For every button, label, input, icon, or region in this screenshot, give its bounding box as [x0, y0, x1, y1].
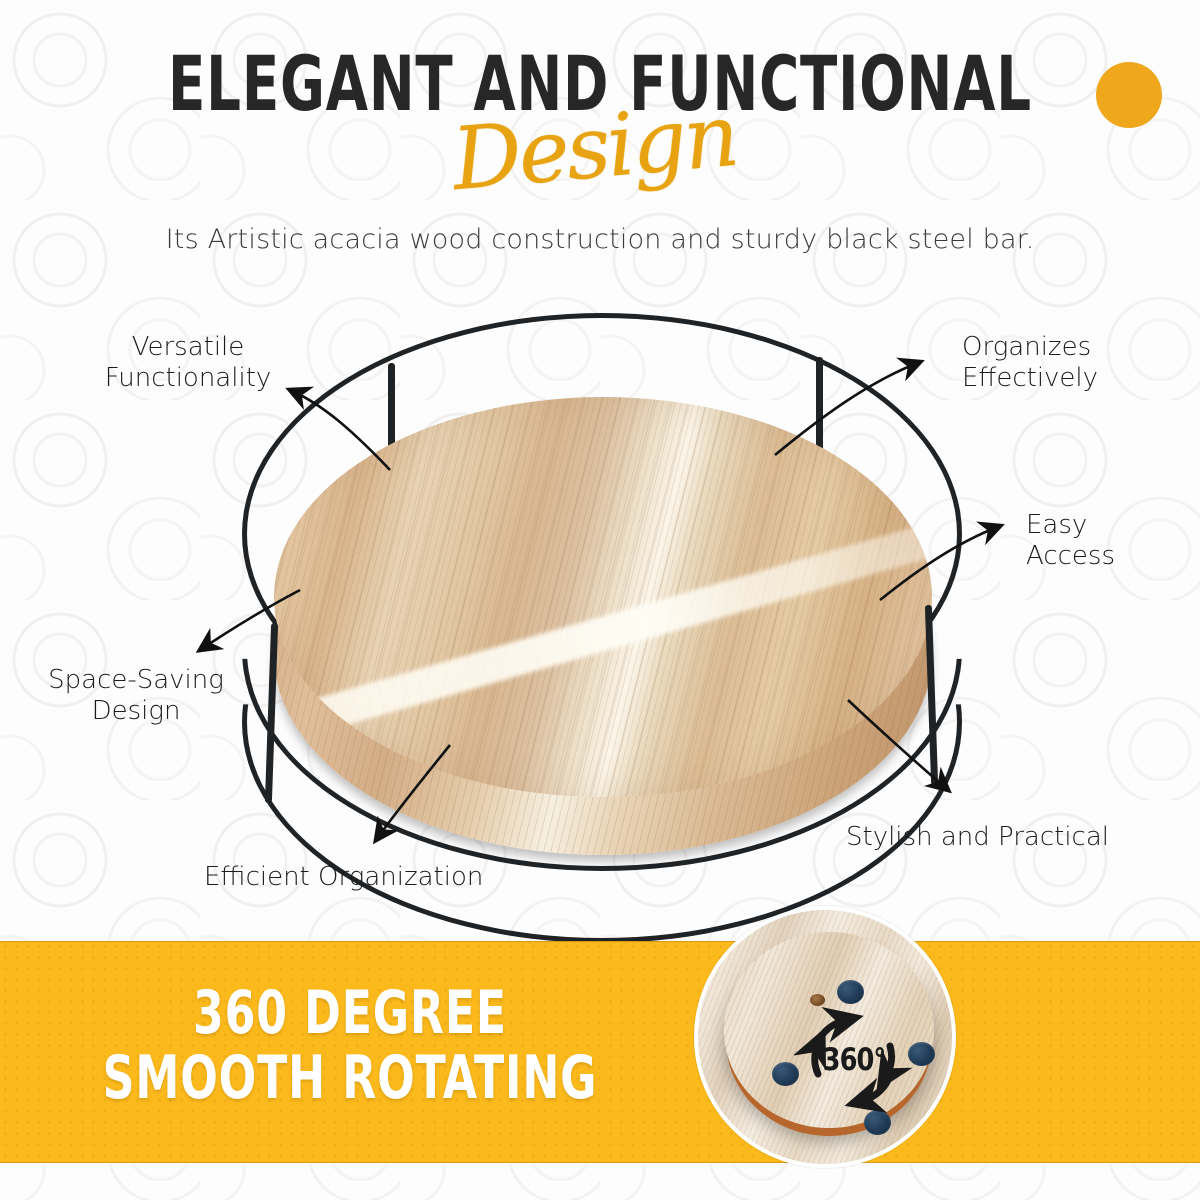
felt-pad-top: [837, 980, 864, 1004]
callout-label-versatile-functionality: Versatile Functionality: [88, 332, 288, 394]
banner-headline: 360 DEGREE SMOOTH ROTATING: [63, 981, 637, 1111]
callout-label-organizes-effectively: Organizes Effectively: [962, 332, 1182, 394]
headline-wrap: ELEGANT AND FUNCTIONAL Design: [46, 40, 1154, 165]
product-image-lazy-susan: [228, 305, 988, 865]
infographic-canvas: ELEGANT AND FUNCTIONAL Design Its Artist…: [0, 0, 1200, 1200]
page-subtitle: Its Artistic acacia wood construction an…: [0, 222, 1200, 258]
headline-accent-circle: [1096, 62, 1162, 128]
header-block: ELEGANT AND FUNCTIONAL Design: [0, 40, 1200, 165]
rotation-degree-label: 360°: [799, 1004, 909, 1116]
bottom-banner: 360 DEGREE SMOOTH ROTATING: [0, 941, 1200, 1163]
product-inset-bottom-view: 360°: [694, 906, 956, 1168]
callout-label-space-saving-design: Space-Saving Design: [22, 665, 250, 727]
callout-label-stylish-and-practical: Stylish and Practical: [846, 822, 1176, 853]
callout-label-easy-access: Easy Access: [1026, 510, 1186, 572]
callout-label-efficient-organization: Efficient Organization: [204, 862, 564, 893]
inset-wood-base-disc: 360°: [724, 932, 934, 1128]
